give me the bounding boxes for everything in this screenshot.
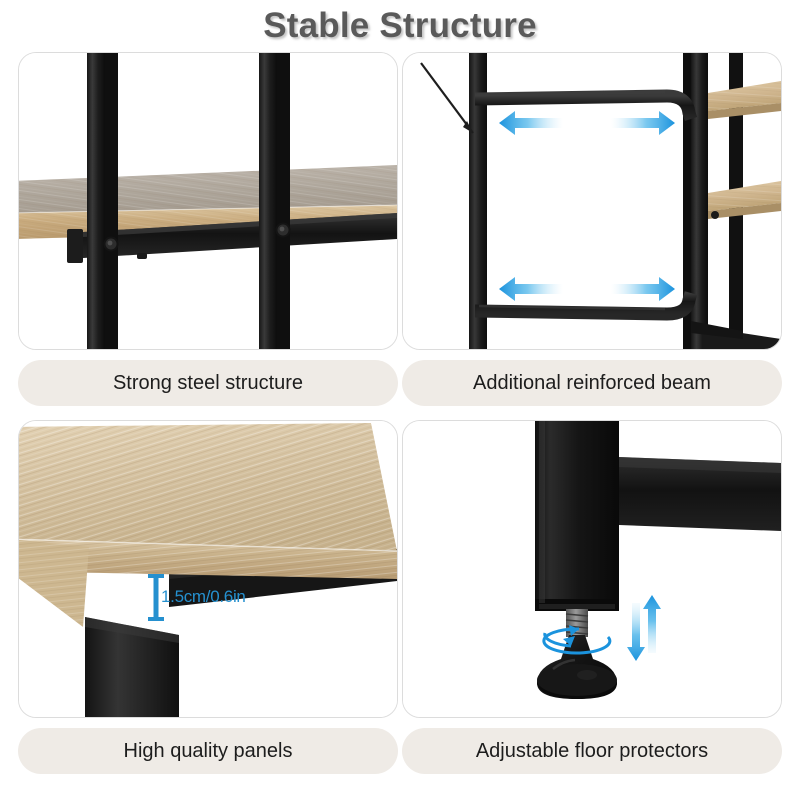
feature-caption-high-quality-panels: High quality panels xyxy=(18,728,398,774)
feature-caption-additional-reinforced-beam: Additional reinforced beam xyxy=(402,360,782,406)
page-title-bar: Stable Structure xyxy=(0,0,800,52)
feature-caption-label: Strong steel structure xyxy=(113,372,303,395)
panel-thickness-label: 1.5cm/0.6in xyxy=(161,587,246,607)
feature-grid: Strong steel structure xyxy=(0,52,800,800)
reinforced-beam-illustration xyxy=(403,53,781,349)
feature-caption-label: High quality panels xyxy=(124,740,293,763)
feature-cell-high-quality-panels: 1.5cm/0.6in High quality panels xyxy=(18,420,398,782)
screw-right xyxy=(276,223,291,238)
feature-caption-label: Additional reinforced beam xyxy=(473,372,711,395)
screw-left xyxy=(104,237,119,252)
feature-caption-label: Adjustable floor protectors xyxy=(476,740,708,763)
feature-caption-strong-steel-structure: Strong steel structure xyxy=(18,360,398,406)
panel-thickness-illustration xyxy=(19,421,397,717)
feature-image-high-quality-panels: 1.5cm/0.6in xyxy=(18,420,398,718)
feature-cell-adjustable-floor-protectors: Adjustable floor protectors xyxy=(402,420,782,782)
feature-image-strong-steel-structure xyxy=(18,52,398,350)
steel-structure-illustration xyxy=(19,53,397,349)
feature-image-adjustable-floor-protectors xyxy=(402,420,782,718)
feature-image-additional-reinforced-beam xyxy=(402,52,782,350)
feature-cell-additional-reinforced-beam: Additional reinforced beam xyxy=(402,52,782,414)
floor-protector-illustration xyxy=(403,421,781,717)
feature-cell-strong-steel-structure: Strong steel structure xyxy=(18,52,398,414)
feature-caption-adjustable-floor-protectors: Adjustable floor protectors xyxy=(402,728,782,774)
page-title: Stable Structure xyxy=(263,6,537,46)
